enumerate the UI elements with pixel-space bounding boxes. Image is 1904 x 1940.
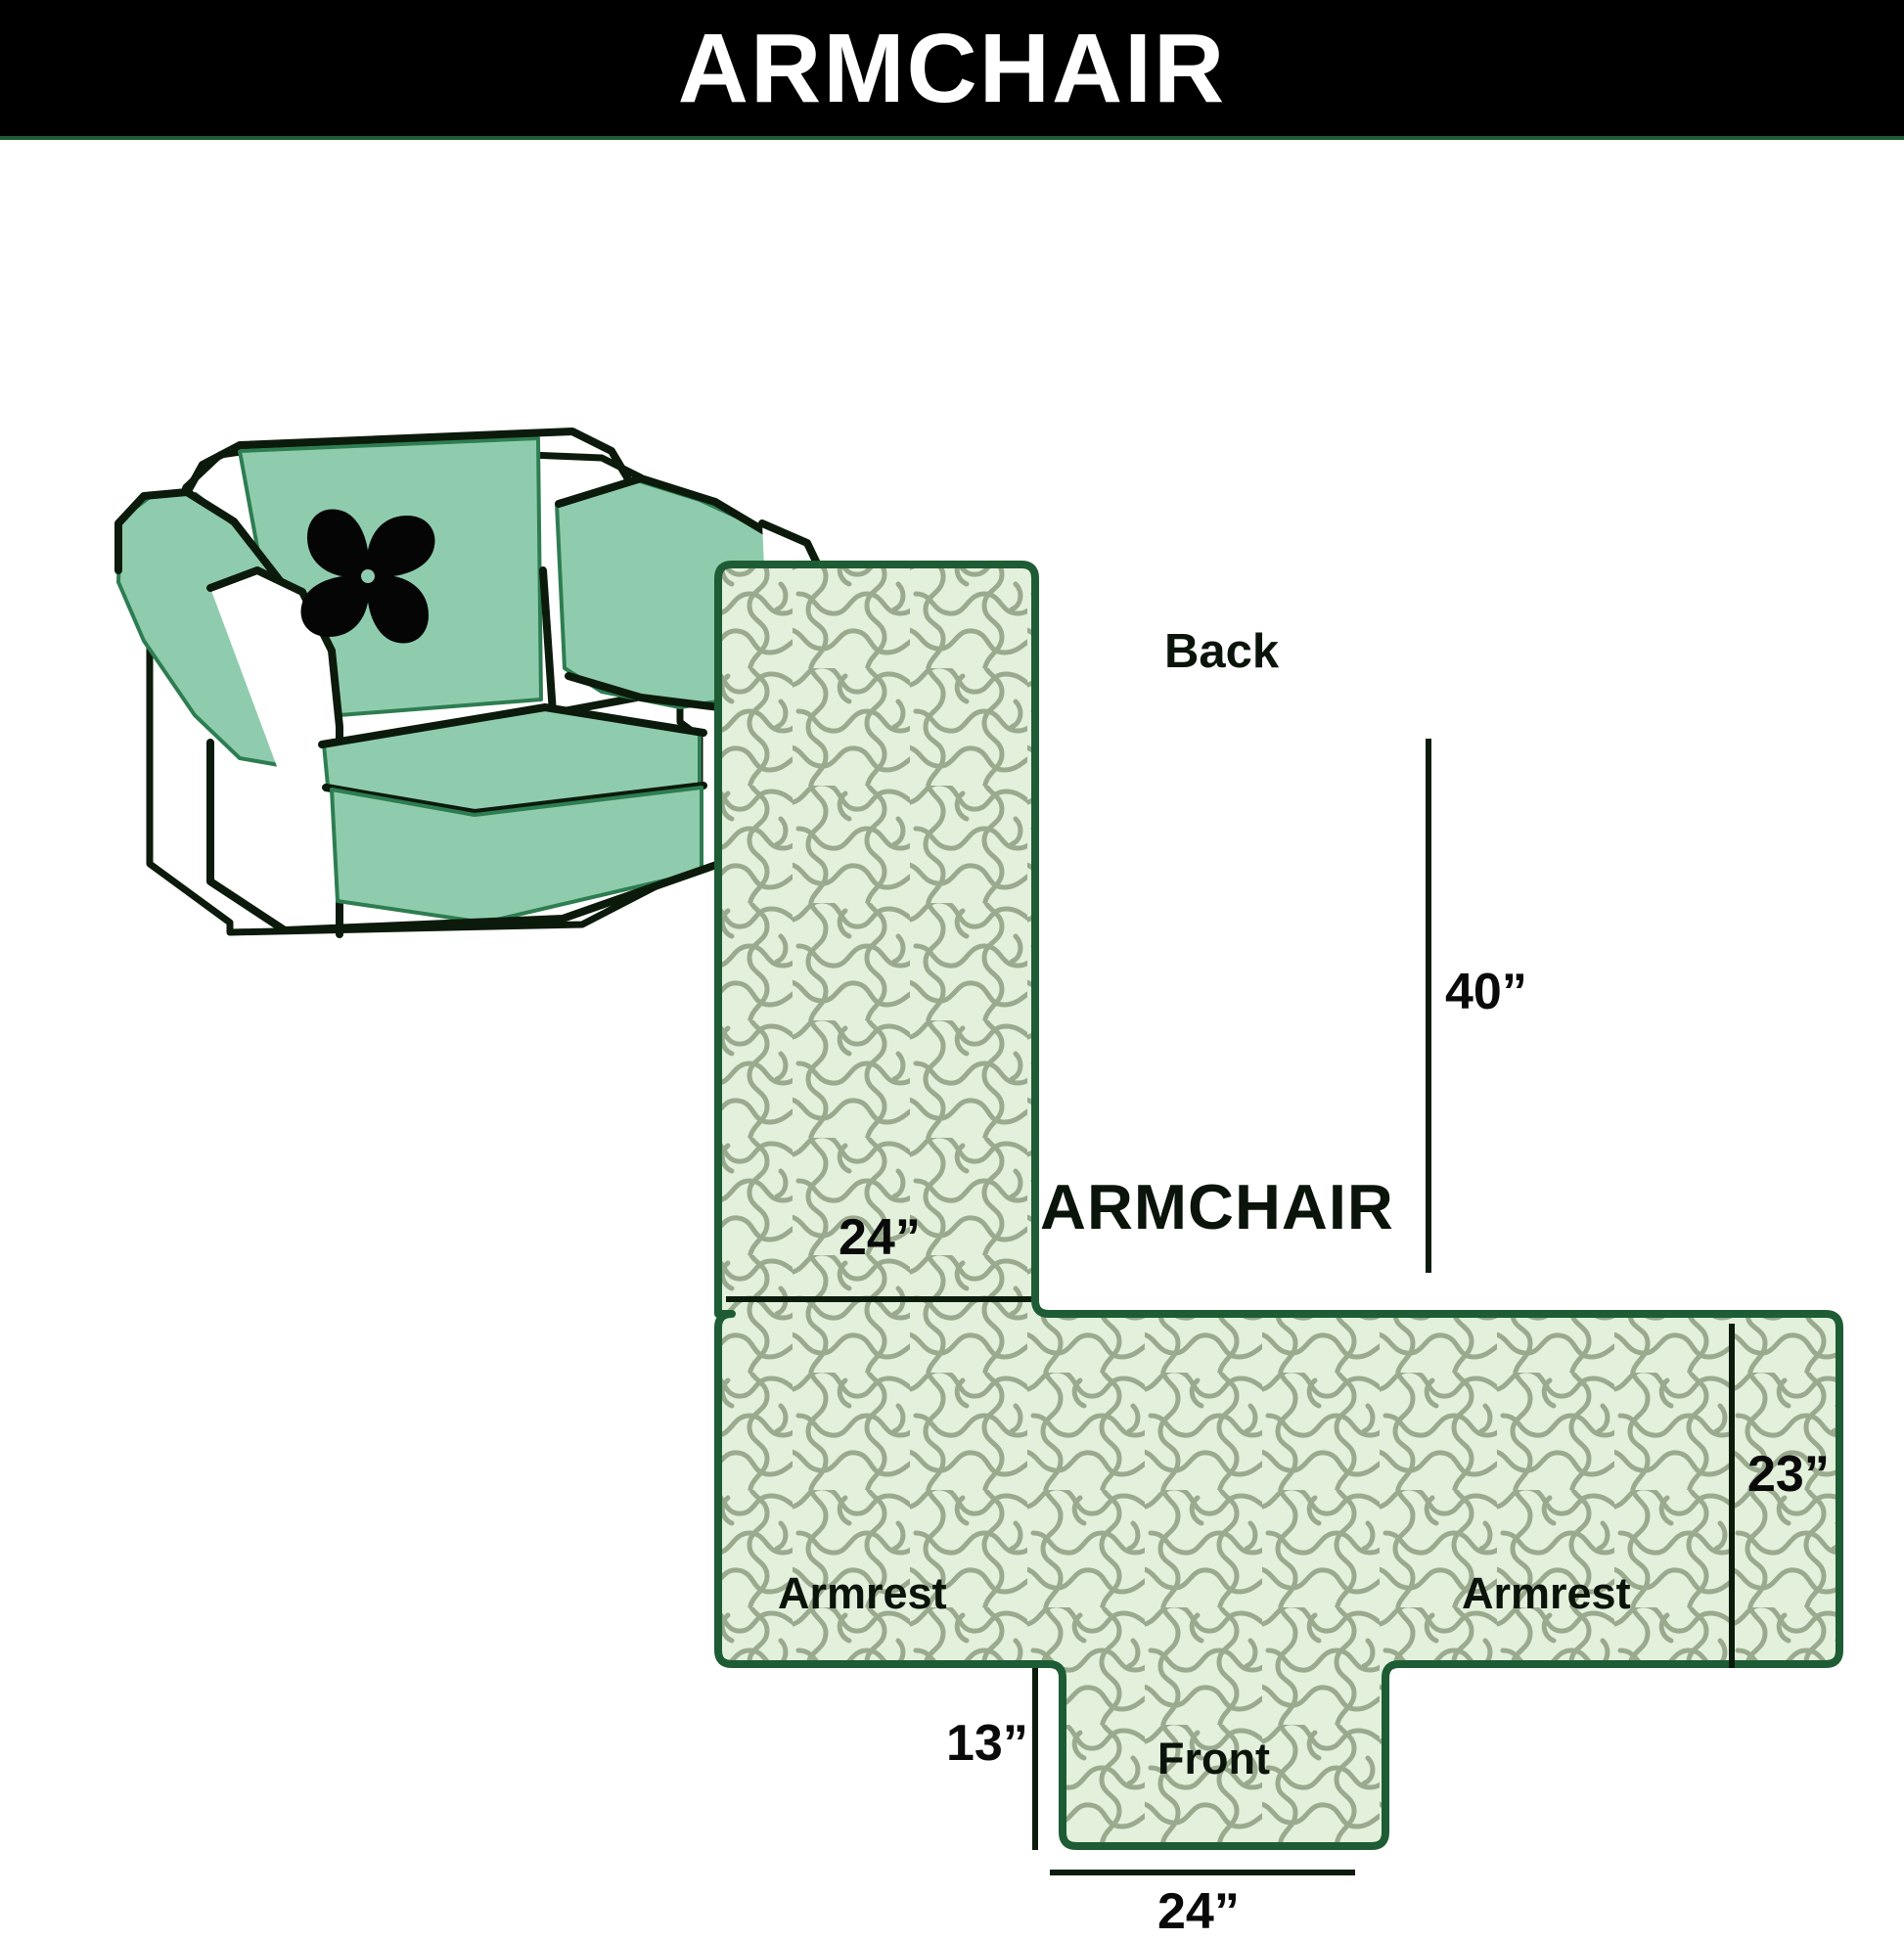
- dimension-line-front-width: [1050, 1870, 1355, 1875]
- dimension-label-front-width: 24”: [1157, 1886, 1240, 1937]
- panel-label-center: ARMCHAIR: [1040, 1175, 1394, 1239]
- dimension-line-armrest-width: [726, 1296, 1031, 1302]
- panel-label-front: Front: [1157, 1737, 1270, 1781]
- panel-label-back: Back: [1164, 628, 1279, 676]
- dimension-label-armrest-width: 24”: [839, 1212, 921, 1263]
- panel-label-armrest-right: Armrest: [1462, 1571, 1631, 1615]
- dimension-line-back-height: [1426, 739, 1431, 1273]
- dimension-line-front-height: [1032, 1668, 1038, 1850]
- dimension-label-center-height: 23”: [1747, 1449, 1830, 1500]
- page-title: ARMCHAIR: [678, 20, 1226, 117]
- dimension-label-front-height: 13”: [946, 1718, 1028, 1769]
- diagram-canvas: Back ARMCHAIR Armrest Armrest Front 40” …: [0, 140, 1904, 1904]
- dimension-label-back-height: 40”: [1445, 967, 1527, 1017]
- header-bar: ARMCHAIR: [0, 0, 1904, 136]
- panel-label-armrest-left: Armrest: [778, 1571, 947, 1615]
- dimension-line-center-height: [1729, 1324, 1735, 1668]
